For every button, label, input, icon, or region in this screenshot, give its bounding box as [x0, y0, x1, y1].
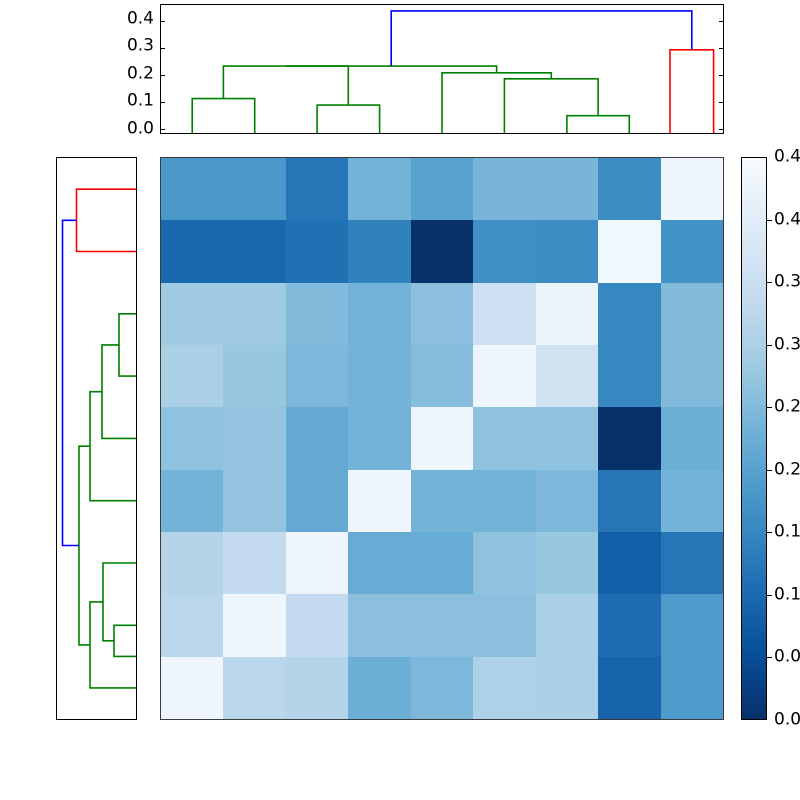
heatmap-cell	[411, 283, 473, 345]
colorbar-tick	[767, 282, 772, 283]
heatmap-cell	[536, 470, 598, 532]
heatmap-cell	[223, 657, 285, 719]
colorbar-tick-label: 0.05	[774, 649, 800, 666]
heatmap-cell	[286, 532, 348, 594]
heatmap-cell	[161, 657, 223, 719]
dendrogram-link	[317, 105, 380, 133]
heatmap-cell	[286, 594, 348, 656]
heatmap-cell	[536, 657, 598, 719]
heatmap-cell	[286, 283, 348, 345]
colorbar-tick-label: 0.35	[774, 274, 800, 291]
y-axis-tick-right	[719, 102, 724, 103]
heatmap-cell	[598, 657, 660, 719]
heatmap-cell	[161, 594, 223, 656]
heatmap-cell	[223, 158, 285, 220]
colorbar-tick-label: 0.40	[774, 211, 800, 228]
colorbar-tick	[767, 657, 772, 658]
y-axis-tick	[160, 129, 165, 130]
heatmap-cell	[661, 594, 723, 656]
heatmap-cell	[473, 532, 535, 594]
heatmap-cell	[536, 532, 598, 594]
colorbar-tick	[767, 407, 772, 408]
heatmap-cell	[161, 407, 223, 469]
heatmap-cell	[223, 283, 285, 345]
colorbar-tick-label: 0.25	[774, 399, 800, 416]
left-dendrogram-panel	[56, 157, 137, 720]
colorbar-tick	[767, 532, 772, 533]
y-tick-label: 0.3	[127, 38, 154, 55]
dendrogram-link	[192, 99, 255, 133]
heatmap-cell	[536, 283, 598, 345]
colorbar-tick-label: 0.45	[774, 149, 800, 166]
y-axis-tick-right	[719, 48, 724, 49]
heatmap-cell	[536, 594, 598, 656]
dendrogram-link	[504, 79, 598, 133]
heatmap-cell	[348, 470, 410, 532]
dendrogram-link	[114, 625, 136, 656]
dendrogram-link	[90, 602, 136, 688]
dendrogram-link	[391, 11, 692, 66]
heatmap-cell	[411, 594, 473, 656]
heatmap-cell	[473, 657, 535, 719]
heatmap-cell	[411, 657, 473, 719]
heatmap-cell	[473, 220, 535, 282]
y-axis-tick	[160, 48, 165, 49]
colorbar-tick-labels: 0.000.050.100.150.200.250.300.350.400.45	[767, 157, 800, 720]
colorbar-tick	[767, 345, 772, 346]
heatmap-cell	[411, 532, 473, 594]
dendrogram-links	[63, 189, 137, 688]
y-tick-label: 0.0	[127, 120, 154, 137]
y-axis-tick-right	[719, 75, 724, 76]
heatmap-cell	[411, 220, 473, 282]
heatmap-cell	[536, 158, 598, 220]
heatmap-cell	[348, 345, 410, 407]
heatmap-cell	[473, 407, 535, 469]
heatmap-cell	[223, 407, 285, 469]
heatmap-cell	[473, 470, 535, 532]
top-dendrogram-plot	[161, 5, 723, 133]
colorbar-tick-label: 0.15	[774, 524, 800, 541]
dendrogram-link	[567, 116, 629, 133]
heatmap-cell	[598, 220, 660, 282]
heatmap-cell	[161, 345, 223, 407]
heatmap-cell	[286, 470, 348, 532]
clustermap-figure: 0.4 0.3 0.2 0.1 0.0	[0, 0, 800, 800]
colorbar-tick	[767, 595, 772, 596]
heatmap-cell	[223, 470, 285, 532]
heatmap-cell	[411, 407, 473, 469]
y-axis-tick-right	[719, 129, 724, 130]
heatmap-cell	[411, 345, 473, 407]
heatmap-cell	[286, 220, 348, 282]
dendrogram-link	[119, 314, 136, 376]
dendrogram-links	[192, 11, 713, 133]
left-dendrogram-plot	[57, 158, 136, 719]
heatmap-cell	[661, 470, 723, 532]
y-tick-label: 0.2	[127, 65, 154, 82]
heatmap-cell	[598, 158, 660, 220]
heatmap-cell	[661, 345, 723, 407]
dendrogram-link	[63, 220, 80, 545]
heatmap-cell	[536, 220, 598, 282]
heatmap-cell	[661, 158, 723, 220]
heatmap-cell	[161, 220, 223, 282]
heatmap-cell	[161, 283, 223, 345]
colorbar	[741, 157, 767, 720]
colorbar-gradient	[742, 158, 766, 719]
heatmap-cell	[661, 407, 723, 469]
heatmap-cell	[661, 657, 723, 719]
dendrogram-link	[79, 446, 90, 645]
heatmap-cell	[661, 220, 723, 282]
y-axis-tick	[160, 21, 165, 22]
heatmap-cell	[223, 345, 285, 407]
heatmap-cell	[161, 532, 223, 594]
colorbar-tick	[767, 470, 772, 471]
heatmap-cell	[598, 532, 660, 594]
heatmap-cell	[661, 532, 723, 594]
heatmap-cell	[161, 158, 223, 220]
heatmap-cell	[536, 345, 598, 407]
heatmap-cell	[348, 657, 410, 719]
heatmap-cell	[286, 345, 348, 407]
y-axis-tick	[160, 102, 165, 103]
dendrogram-link	[90, 392, 136, 501]
heatmap-cell	[348, 532, 410, 594]
heatmap-cell	[348, 407, 410, 469]
heatmap-cell	[348, 220, 410, 282]
heatmap-panel	[160, 157, 724, 720]
dendrogram-link	[286, 66, 497, 73]
heatmap-cell	[348, 158, 410, 220]
dendrogram-link	[77, 189, 137, 251]
heatmap-cell	[473, 158, 535, 220]
heatmap-cell	[348, 283, 410, 345]
heatmap-cell	[286, 158, 348, 220]
top-dendrogram-y-axis: 0.4 0.3 0.2 0.1 0.0	[100, 4, 154, 134]
y-axis-tick-right	[719, 21, 724, 22]
heatmap-cell	[161, 470, 223, 532]
colorbar-tick-label: 0.30	[774, 336, 800, 353]
dendrogram-link	[670, 50, 714, 133]
colorbar-tick-label: 0.10	[774, 586, 800, 603]
heatmap-cell	[286, 657, 348, 719]
heatmap-cell	[223, 532, 285, 594]
heatmap-cell	[473, 283, 535, 345]
heatmap-grid	[161, 158, 723, 719]
heatmap-cell	[411, 470, 473, 532]
colorbar-tick-label: 0.20	[774, 461, 800, 478]
colorbar-tick	[767, 220, 772, 221]
top-dendrogram-panel	[160, 4, 724, 134]
y-tick-label: 0.1	[127, 93, 154, 110]
heatmap-cell	[598, 407, 660, 469]
heatmap-cell	[473, 345, 535, 407]
heatmap-cell	[473, 594, 535, 656]
y-tick-label: 0.4	[127, 10, 154, 27]
colorbar-tick-label: 0.00	[774, 712, 800, 729]
heatmap-cell	[598, 345, 660, 407]
heatmap-cell	[223, 594, 285, 656]
heatmap-cell	[598, 470, 660, 532]
heatmap-cell	[598, 594, 660, 656]
dendrogram-link	[103, 563, 136, 641]
heatmap-cell	[411, 158, 473, 220]
heatmap-cell	[348, 594, 410, 656]
dendrogram-link	[442, 73, 551, 133]
y-axis-tick	[160, 75, 165, 76]
heatmap-cell	[223, 220, 285, 282]
heatmap-cell	[661, 283, 723, 345]
heatmap-cell	[536, 407, 598, 469]
heatmap-cell	[286, 407, 348, 469]
heatmap-cell	[598, 283, 660, 345]
